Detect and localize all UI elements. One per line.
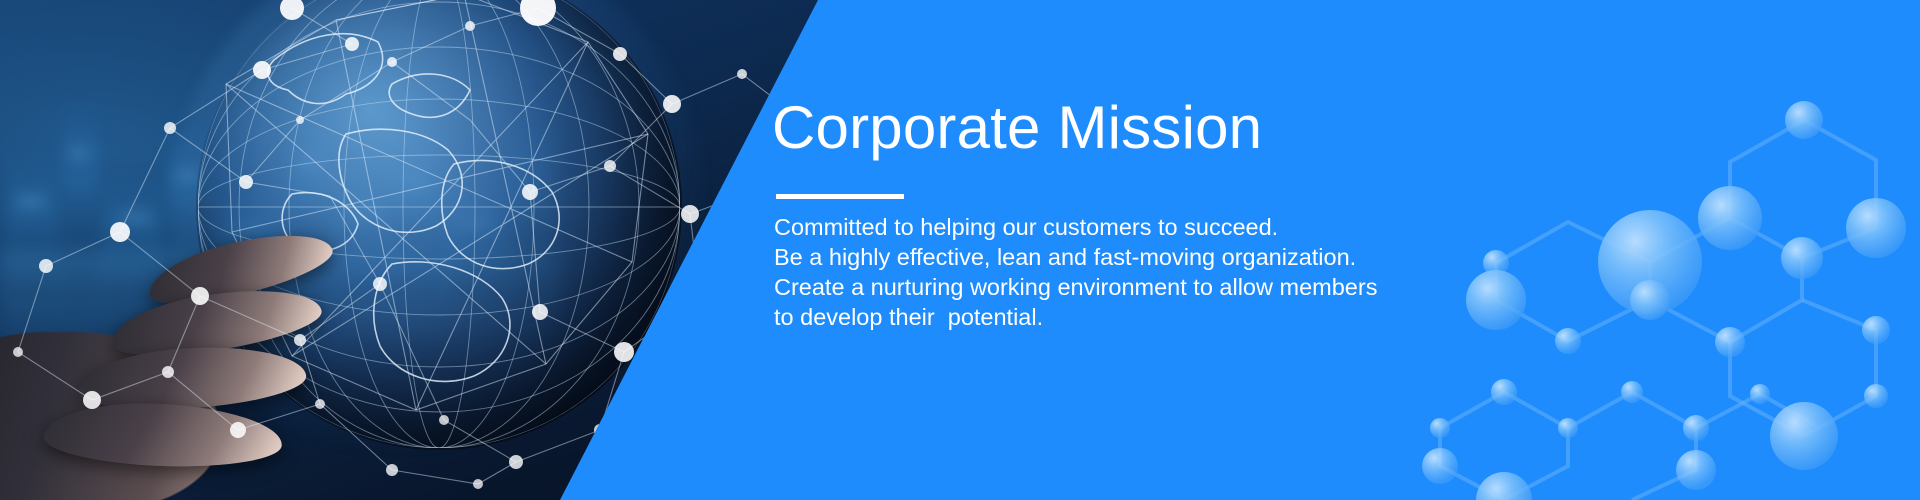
banner-text-block: Corporate Mission Committed to helping o… (772, 0, 1472, 500)
mission-line-4: to develop their potential. (774, 302, 1394, 332)
mission-statement: Committed to helping our customers to su… (774, 212, 1394, 332)
corporate-mission-banner: Corporate Mission Committed to helping o… (0, 0, 1920, 500)
mission-line-3: Create a nurturing working environment t… (774, 272, 1394, 302)
mission-line-2: Be a highly effective, lean and fast-mov… (774, 242, 1394, 272)
page-title: Corporate Mission (772, 96, 1262, 159)
mission-line-1: Committed to helping our customers to su… (774, 212, 1394, 242)
title-divider-rule (776, 194, 904, 199)
